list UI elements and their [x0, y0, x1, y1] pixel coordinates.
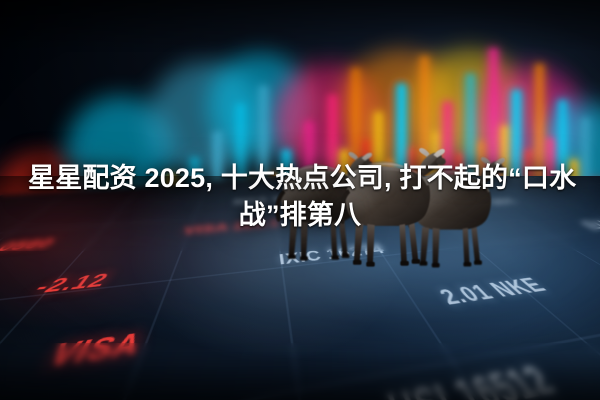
page-title: 星星配资 2025, 十大热点公司, 打不起的“口水 战”排第八 [22, 160, 578, 234]
ticker-quote: IXIC 16274 [278, 242, 388, 269]
headline-block: 星星配资 2025, 十大热点公司, 打不起的“口水 战”排第八 [0, 160, 600, 234]
banner-image: TSLA 184.20 +1.36NIKE 98.12 -0.442.1082 … [0, 0, 600, 400]
headline-line-2: 战”排第八 [22, 197, 578, 234]
ticker-quote: VISA [39, 325, 147, 375]
ticker-quote: -2.12 [27, 270, 114, 300]
headline-line-1: 星星配资 2025, 十大热点公司, 打不起的“口水 [28, 160, 578, 197]
ticker-quote: 2.01 NKE [434, 273, 554, 309]
ticker-quote: HSI 16512 [382, 359, 568, 400]
ticker-quote: 0560 [0, 236, 60, 255]
